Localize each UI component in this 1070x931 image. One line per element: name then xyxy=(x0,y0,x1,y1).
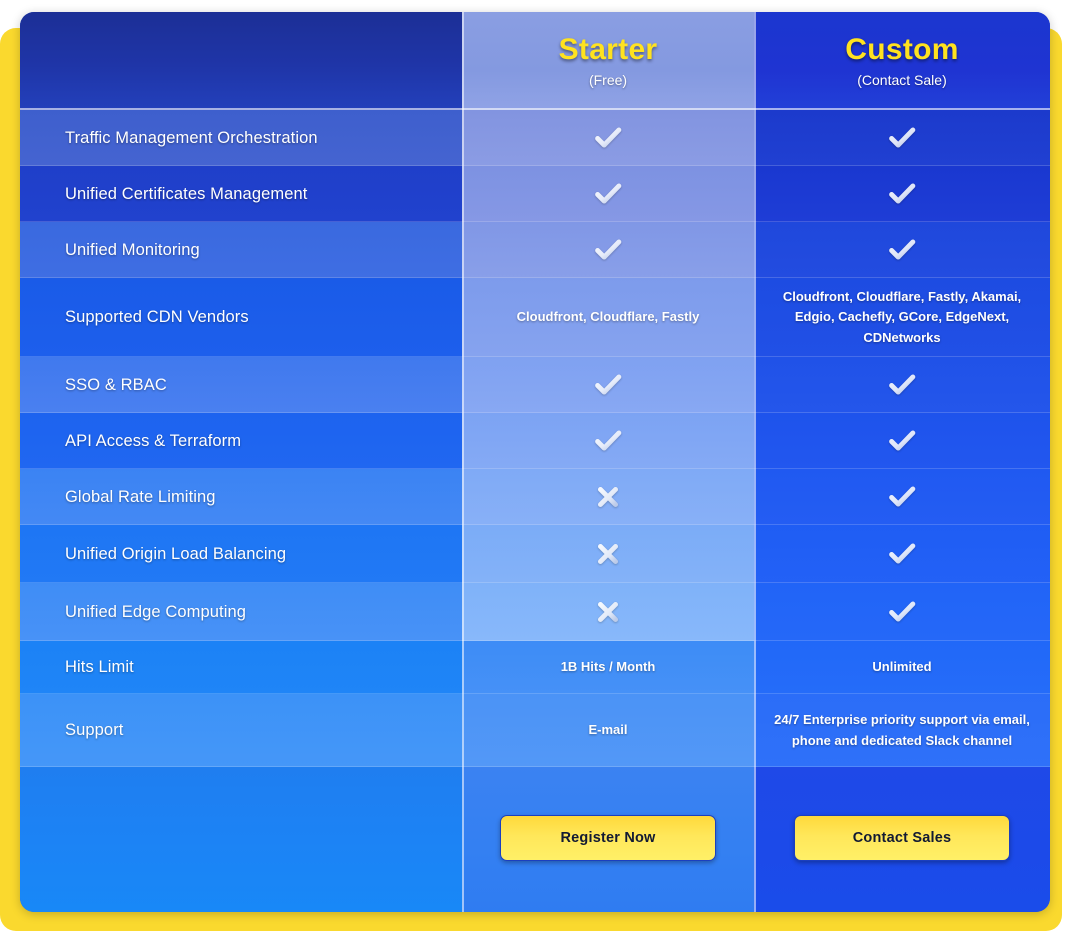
custom-cell xyxy=(754,222,1050,278)
starter-cell xyxy=(462,166,754,222)
cross-icon xyxy=(591,480,625,514)
feature-cell: Hits Limit xyxy=(20,641,462,694)
feature-cell: Traffic Management Orchestration xyxy=(20,110,462,166)
cta-cell-custom: Contact Sales xyxy=(754,767,1050,912)
starter-cell xyxy=(462,110,754,166)
cta-cell-starter: Register Now xyxy=(462,767,754,912)
custom-cell xyxy=(754,583,1050,641)
custom-cell xyxy=(754,166,1050,222)
custom-cell xyxy=(754,469,1050,525)
table-row: API Access & Terraform xyxy=(20,413,1050,469)
starter-value: Cloudfront, Cloudflare, Fastly xyxy=(503,307,714,327)
check-icon xyxy=(885,424,919,458)
custom-cell: 24/7 Enterprise priority support via ema… xyxy=(754,694,1050,767)
starter-cell: Cloudfront, Cloudflare, Fastly xyxy=(462,278,754,357)
feature-cell: Unified Monitoring xyxy=(20,222,462,278)
custom-value: 24/7 Enterprise priority support via ema… xyxy=(754,710,1050,750)
feature-cell: Global Rate Limiting xyxy=(20,469,462,525)
feature-label: Unified Certificates Management xyxy=(65,185,307,204)
starter-cell xyxy=(462,222,754,278)
check-icon xyxy=(591,424,625,458)
cross-icon xyxy=(591,537,625,571)
feature-cell: Supported CDN Vendors xyxy=(20,278,462,357)
custom-value: Unlimited xyxy=(858,657,945,677)
check-icon xyxy=(591,177,625,211)
contact-sales-button[interactable]: Contact Sales xyxy=(794,815,1010,861)
plan-name-custom: Custom xyxy=(845,34,958,66)
feature-label: Unified Edge Computing xyxy=(65,603,246,622)
custom-cell: Unlimited xyxy=(754,641,1050,694)
table-header-row: Starter (Free) Custom (Contact Sale) xyxy=(20,12,1050,110)
header-cell-starter: Starter (Free) xyxy=(462,12,754,110)
check-icon xyxy=(591,121,625,155)
check-icon xyxy=(885,233,919,267)
check-icon xyxy=(885,537,919,571)
feature-cell: Support xyxy=(20,694,462,767)
table-row: Supported CDN Vendors Cloudfront, Cloudf… xyxy=(20,278,1050,357)
starter-value: 1B Hits / Month xyxy=(547,657,670,677)
plan-price-custom: (Contact Sale) xyxy=(857,72,946,88)
feature-label: Support xyxy=(65,721,124,740)
feature-label: Unified Origin Load Balancing xyxy=(65,545,286,564)
table-row: Unified Certificates Management xyxy=(20,166,1050,222)
starter-value: E-mail xyxy=(574,720,641,740)
table-row: Unified Monitoring xyxy=(20,222,1050,278)
pricing-comparison-table: Starter (Free) Custom (Contact Sale) Tra… xyxy=(20,12,1050,912)
feature-cell: SSO & RBAC xyxy=(20,357,462,413)
feature-cell: Unified Edge Computing xyxy=(20,583,462,641)
starter-cell xyxy=(462,357,754,413)
starter-cell xyxy=(462,583,754,641)
table-row: Support E-mail 24/7 Enterprise priority … xyxy=(20,694,1050,767)
header-cell-feature xyxy=(20,12,462,110)
table-row: Unified Edge Computing xyxy=(20,583,1050,641)
table-row: SSO & RBAC xyxy=(20,357,1050,413)
cross-icon xyxy=(591,595,625,629)
plan-name-starter: Starter xyxy=(559,34,658,66)
check-icon xyxy=(885,595,919,629)
feature-label: API Access & Terraform xyxy=(65,432,241,451)
check-icon xyxy=(591,368,625,402)
cta-row: Register Now Contact Sales xyxy=(20,767,1050,912)
feature-label: SSO & RBAC xyxy=(65,376,167,395)
table-row: Global Rate Limiting xyxy=(20,469,1050,525)
starter-cell: E-mail xyxy=(462,694,754,767)
custom-cell xyxy=(754,110,1050,166)
feature-cell: Unified Certificates Management xyxy=(20,166,462,222)
check-icon xyxy=(885,121,919,155)
check-icon xyxy=(885,480,919,514)
table-row: Unified Origin Load Balancing xyxy=(20,525,1050,583)
table-row: Traffic Management Orchestration xyxy=(20,110,1050,166)
check-icon xyxy=(591,233,625,267)
feature-cell: Unified Origin Load Balancing xyxy=(20,525,462,583)
plan-price-starter: (Free) xyxy=(589,72,627,88)
custom-cell xyxy=(754,413,1050,469)
starter-cell xyxy=(462,525,754,583)
custom-value: Cloudfront, Cloudflare, Fastly, Akamai, … xyxy=(754,287,1050,347)
custom-cell xyxy=(754,525,1050,583)
starter-cell: 1B Hits / Month xyxy=(462,641,754,694)
feature-label: Global Rate Limiting xyxy=(65,488,216,507)
feature-label: Hits Limit xyxy=(65,658,134,677)
starter-cell xyxy=(462,413,754,469)
feature-label: Supported CDN Vendors xyxy=(65,308,249,327)
register-now-button[interactable]: Register Now xyxy=(500,815,716,861)
feature-label: Traffic Management Orchestration xyxy=(65,129,318,148)
custom-cell xyxy=(754,357,1050,413)
check-icon xyxy=(885,368,919,402)
header-cell-custom: Custom (Contact Sale) xyxy=(754,12,1050,110)
custom-cell: Cloudfront, Cloudflare, Fastly, Akamai, … xyxy=(754,278,1050,357)
table-row: Hits Limit 1B Hits / Month Unlimited xyxy=(20,641,1050,694)
cta-cell-empty xyxy=(20,767,462,912)
feature-label: Unified Monitoring xyxy=(65,241,200,260)
starter-cell xyxy=(462,469,754,525)
feature-cell: API Access & Terraform xyxy=(20,413,462,469)
check-icon xyxy=(885,177,919,211)
